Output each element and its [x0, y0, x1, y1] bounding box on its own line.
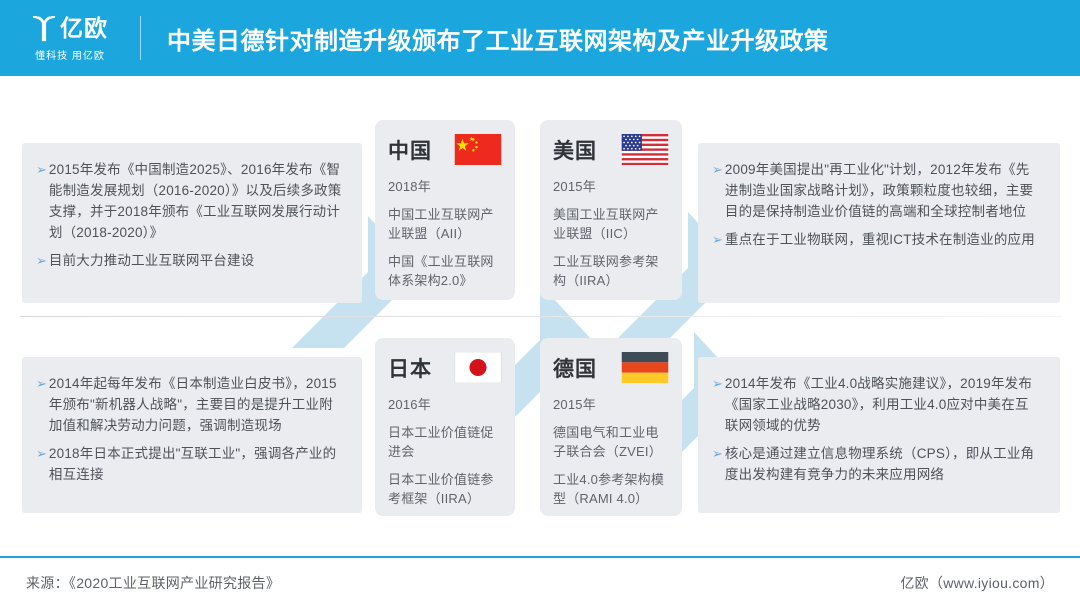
flag-germany-icon	[621, 352, 669, 383]
country-name: 美国	[553, 135, 597, 165]
bullet-text: 核心是通过建立信息物理系统（CPS），即从工业角度出发构建有竞争力的未来应用网络	[725, 443, 1042, 485]
arrow-bullet-icon: ➢	[36, 443, 47, 464]
header-divider	[140, 16, 141, 60]
logo-tagline: 懂科技 用亿欧	[35, 47, 105, 62]
footer-source: 来源：《2020工业互联网产业研究报告》	[26, 573, 280, 593]
country-card-header: 德国	[553, 352, 669, 383]
panel-germany-policy: ➢ 2014年发布《工业4.0战略实施建议》，2019年发布《国家工业战略203…	[698, 357, 1060, 513]
country-framework: 中国《工业互联网体系架构2.0》	[388, 252, 502, 290]
country-card-japan[interactable]: 日本 2016年 日本工业价值链促进会 日本工业价值链参考框架（IIRA）	[375, 338, 515, 516]
bullet-item: ➢ 2014年起每年发布《日本制造业白皮书》，2015年颁布"新机器人战略"，主…	[36, 373, 344, 436]
page-title: 中美日德针对制造升级颁布了工业互联网架构及产业升级政策	[167, 21, 829, 56]
country-name: 德国	[553, 353, 597, 383]
footer-brand: 亿欧（www.iyiou.com）	[900, 573, 1054, 593]
bullet-item: ➢ 2009年美国提出"再工业化"计划，2012年发布《先进制造业国家战略计划》…	[712, 159, 1042, 222]
country-name: 日本	[388, 353, 432, 383]
country-org: 日本工业价值链促进会	[388, 423, 502, 461]
country-year: 2018年	[388, 177, 502, 196]
bullet-item: ➢ 重点在于工业物联网，重视ICT技术在制造业的应用	[712, 229, 1042, 250]
arrow-bullet-icon: ➢	[712, 159, 723, 180]
page-footer: 来源：《2020工业互联网产业研究报告》 亿欧（www.iyiou.com）	[0, 562, 1080, 604]
arrow-bullet-icon: ➢	[36, 159, 47, 180]
logo: 亿欧 懂科技 用亿欧	[0, 0, 140, 76]
arrow-bullet-icon: ➢	[36, 250, 47, 271]
bullet-text: 目前大力推动工业互联网平台建设	[49, 250, 255, 271]
arrow-bullet-icon: ➢	[712, 373, 723, 394]
country-card-header: 中国	[388, 134, 502, 165]
country-org: 美国工业互联网产业联盟（IIC）	[553, 205, 669, 243]
bullet-item: ➢ 2018年日本正式提出"互联工业"，强调各产业的相互连接	[36, 443, 344, 485]
yiou-y-mark-icon	[32, 14, 56, 42]
country-card-header: 日本	[388, 352, 502, 383]
country-card-header: 美国	[553, 134, 669, 165]
bullet-item: ➢ 2015年发布《中国制造2025》、2016年发布《智能制造发展规划（201…	[36, 159, 344, 243]
country-year: 2016年	[388, 395, 502, 414]
bullet-text: 2014年起每年发布《日本制造业白皮书》，2015年颁布"新机器人战略"，主要目…	[49, 373, 344, 436]
country-year: 2015年	[553, 177, 669, 196]
country-org: 中国工业互联网产业联盟（AII）	[388, 205, 502, 243]
bullet-text: 重点在于工业物联网，重视ICT技术在制造业的应用	[725, 229, 1035, 250]
panel-usa-policy: ➢ 2009年美国提出"再工业化"计划，2012年发布《先进制造业国家战略计划》…	[698, 143, 1060, 303]
bullet-text: 2009年美国提出"再工业化"计划，2012年发布《先进制造业国家战略计划》，政…	[725, 159, 1042, 222]
bullet-item: ➢ 2014年发布《工业4.0战略实施建议》，2019年发布《国家工业战略203…	[712, 373, 1042, 436]
flag-usa-icon	[621, 134, 669, 165]
country-framework: 工业互联网参考架构（IIRA）	[553, 252, 669, 290]
country-card-china[interactable]: 中国 2018年 中国工业互联网产业联盟（AII） 中国《工业互联网体系架构2.…	[375, 120, 515, 300]
flag-japan-icon	[454, 352, 502, 383]
country-year: 2015年	[553, 395, 669, 414]
arrow-bullet-icon: ➢	[712, 229, 723, 250]
bullet-item: ➢ 核心是通过建立信息物理系统（CPS），即从工业角度出发构建有竞争力的未来应用…	[712, 443, 1042, 485]
footer-divider	[0, 556, 1080, 558]
country-card-usa[interactable]: 美国 2015年 美国工业互联	[540, 120, 682, 300]
flag-china-icon	[454, 134, 502, 165]
arrow-bullet-icon: ➢	[712, 443, 723, 464]
panel-china-policy: ➢ 2015年发布《中国制造2025》、2016年发布《智能制造发展规划（201…	[22, 143, 362, 303]
page-header: 亿欧 懂科技 用亿欧 中美日德针对制造升级颁布了工业互联网架构及产业升级政策	[0, 0, 1080, 76]
bullet-item: ➢ 目前大力推动工业互联网平台建设	[36, 250, 344, 271]
country-framework: 工业4.0参考架构模型（RAMI 4.0）	[553, 470, 669, 508]
row-divider	[20, 316, 1062, 317]
arrow-bullet-icon: ➢	[36, 373, 47, 394]
country-org: 德国电气和工业电子联合会（ZVEI）	[553, 423, 669, 461]
country-framework: 日本工业价值链参考框架（IIRA）	[388, 470, 502, 508]
logo-wordmark: 亿欧	[60, 17, 108, 40]
country-card-germany[interactable]: 德国 2015年 德国电气和工业电子联合会（ZVEI） 工业4.0参考架构模型（…	[540, 338, 682, 516]
country-name: 中国	[388, 135, 432, 165]
bullet-text: 2014年发布《工业4.0战略实施建议》，2019年发布《国家工业战略2030》…	[725, 373, 1042, 436]
bullet-text: 2018年日本正式提出"互联工业"，强调各产业的相互连接	[49, 443, 344, 485]
bullet-text: 2015年发布《中国制造2025》、2016年发布《智能制造发展规划（2016-…	[49, 159, 344, 243]
logo-main: 亿欧	[32, 14, 108, 42]
panel-japan-policy: ➢ 2014年起每年发布《日本制造业白皮书》，2015年颁布"新机器人战略"，主…	[22, 357, 362, 513]
